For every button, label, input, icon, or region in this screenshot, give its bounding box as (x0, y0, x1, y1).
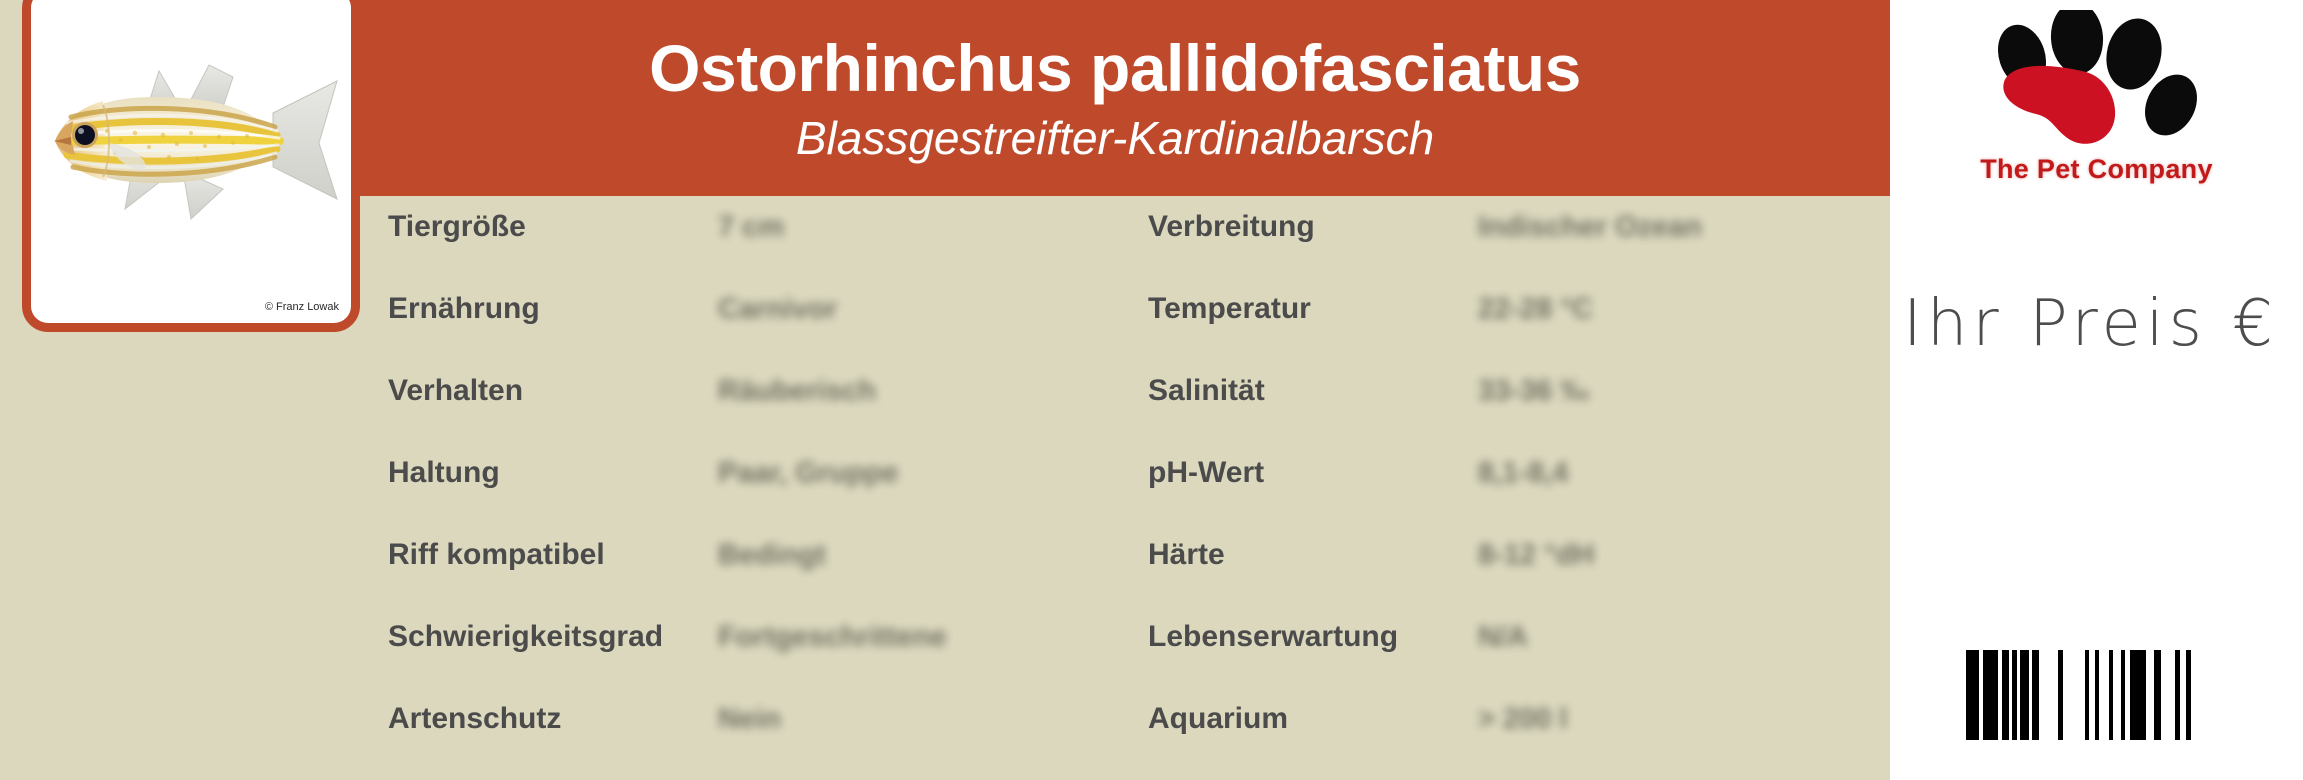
spec-label: pH-Wert (1148, 456, 1264, 490)
spec-row: Salinität 33-36 ‰ (1148, 360, 1890, 442)
spec-label: Ernährung (388, 292, 540, 326)
spec-value: Räuberisch (718, 375, 876, 408)
barcode-bar (2130, 650, 2146, 740)
spec-value: Fortgeschrittene (718, 621, 947, 654)
spec-label: Tiergröße (388, 210, 526, 244)
spec-row: Verhalten Räuberisch (388, 360, 1148, 442)
spec-label: Salinität (1148, 374, 1265, 408)
barcode (1966, 650, 2199, 740)
barcode-bar (1966, 650, 1979, 740)
price-label-card: Ostorhinchus pallidofasciatus Blassgestr… (0, 0, 2303, 780)
barcode-bar (2154, 650, 2161, 740)
spec-value: > 200 l (1478, 703, 1568, 736)
barcode-bar (2012, 650, 2017, 740)
barcode-bar (2002, 650, 2009, 740)
spec-label: Verbreitung (1148, 210, 1315, 244)
spec-value: Carnivor (718, 293, 837, 326)
barcode-bar (2186, 650, 2191, 740)
spec-row: Artenschutz Nein (388, 688, 1148, 770)
spec-row: Schwierigkeitsgrad Fortgeschrittene (388, 606, 1148, 688)
spec-row: Haltung Paar, Gruppe (388, 442, 1148, 524)
spec-row: pH-Wert 8,1-8,4 (1148, 442, 1890, 524)
spec-label: Haltung (388, 456, 500, 490)
spec-label: Lebenserwartung (1148, 620, 1398, 654)
spec-value: 33-36 ‰ (1478, 375, 1589, 408)
spec-row: Lebenserwartung N/A (1148, 606, 1890, 688)
barcode-bar (2175, 650, 2180, 740)
barcode-bar (2032, 650, 2039, 740)
spec-value: Nein (718, 703, 781, 736)
barcode-bar (2058, 650, 2063, 740)
spec-value: N/A (1478, 621, 1528, 654)
spec-column-left: Tiergröße 7 cm Ernährung Carnivor Verhal… (388, 196, 1148, 780)
header-titles: Ostorhinchus pallidofasciatus Blassgestr… (340, 0, 1890, 196)
barcode-bar (2121, 650, 2125, 740)
spec-label: Riff kompatibel (388, 538, 605, 572)
spec-value: 22-28 °C (1478, 293, 1593, 326)
spec-label: Aquarium (1148, 702, 1288, 736)
barcode-bar (1983, 650, 1998, 740)
barcode-bar (2109, 650, 2113, 740)
spec-row: Härte 8-12 °dH (1148, 524, 1890, 606)
price-panel: The Pet Company Ihr Preis € (1890, 0, 2303, 780)
barcode-bar (2020, 650, 2029, 740)
spec-value: 8-12 °dH (1478, 539, 1594, 572)
price-label-text: Ihr Preis € (1884, 287, 2297, 361)
spec-row: Ernährung Carnivor (388, 278, 1148, 360)
spec-row: Verbreitung Indischer Ozean (1148, 196, 1890, 278)
spec-value: Bedingt (718, 539, 826, 572)
spec-value: 7 cm (718, 211, 784, 244)
spec-value: Indischer Ozean (1478, 211, 1702, 244)
brand-logo: The Pet Company (1890, 4, 2303, 200)
spec-value: Paar, Gruppe (718, 457, 899, 490)
barcode-bar (2085, 650, 2089, 740)
paw-print-icon (1974, 10, 2214, 150)
spec-label: Härte (1148, 538, 1225, 572)
brand-name: The Pet Company (1890, 154, 2303, 185)
spec-label: Temperatur (1148, 292, 1311, 326)
spec-label: Verhalten (388, 374, 523, 408)
spec-column-right: Verbreitung Indischer Ozean Temperatur 2… (1148, 196, 1890, 780)
spec-label: Artenschutz (388, 702, 561, 736)
scientific-name: Ostorhinchus pallidofasciatus (649, 35, 1581, 101)
spec-value: 8,1-8,4 (1478, 457, 1568, 490)
spec-table: Tiergröße 7 cm Ernährung Carnivor Verhal… (0, 196, 1890, 780)
spec-label: Schwierigkeitsgrad (388, 620, 663, 654)
spec-row: Tiergröße 7 cm (388, 196, 1148, 278)
barcode-bar (2095, 650, 2099, 740)
spec-row: Temperatur 22-28 °C (1148, 278, 1890, 360)
spec-row: Aquarium > 200 l (1148, 688, 1890, 770)
spec-row: Riff kompatibel Bedingt (388, 524, 1148, 606)
common-name: Blassgestreifter-Kardinalbarsch (796, 115, 1434, 161)
